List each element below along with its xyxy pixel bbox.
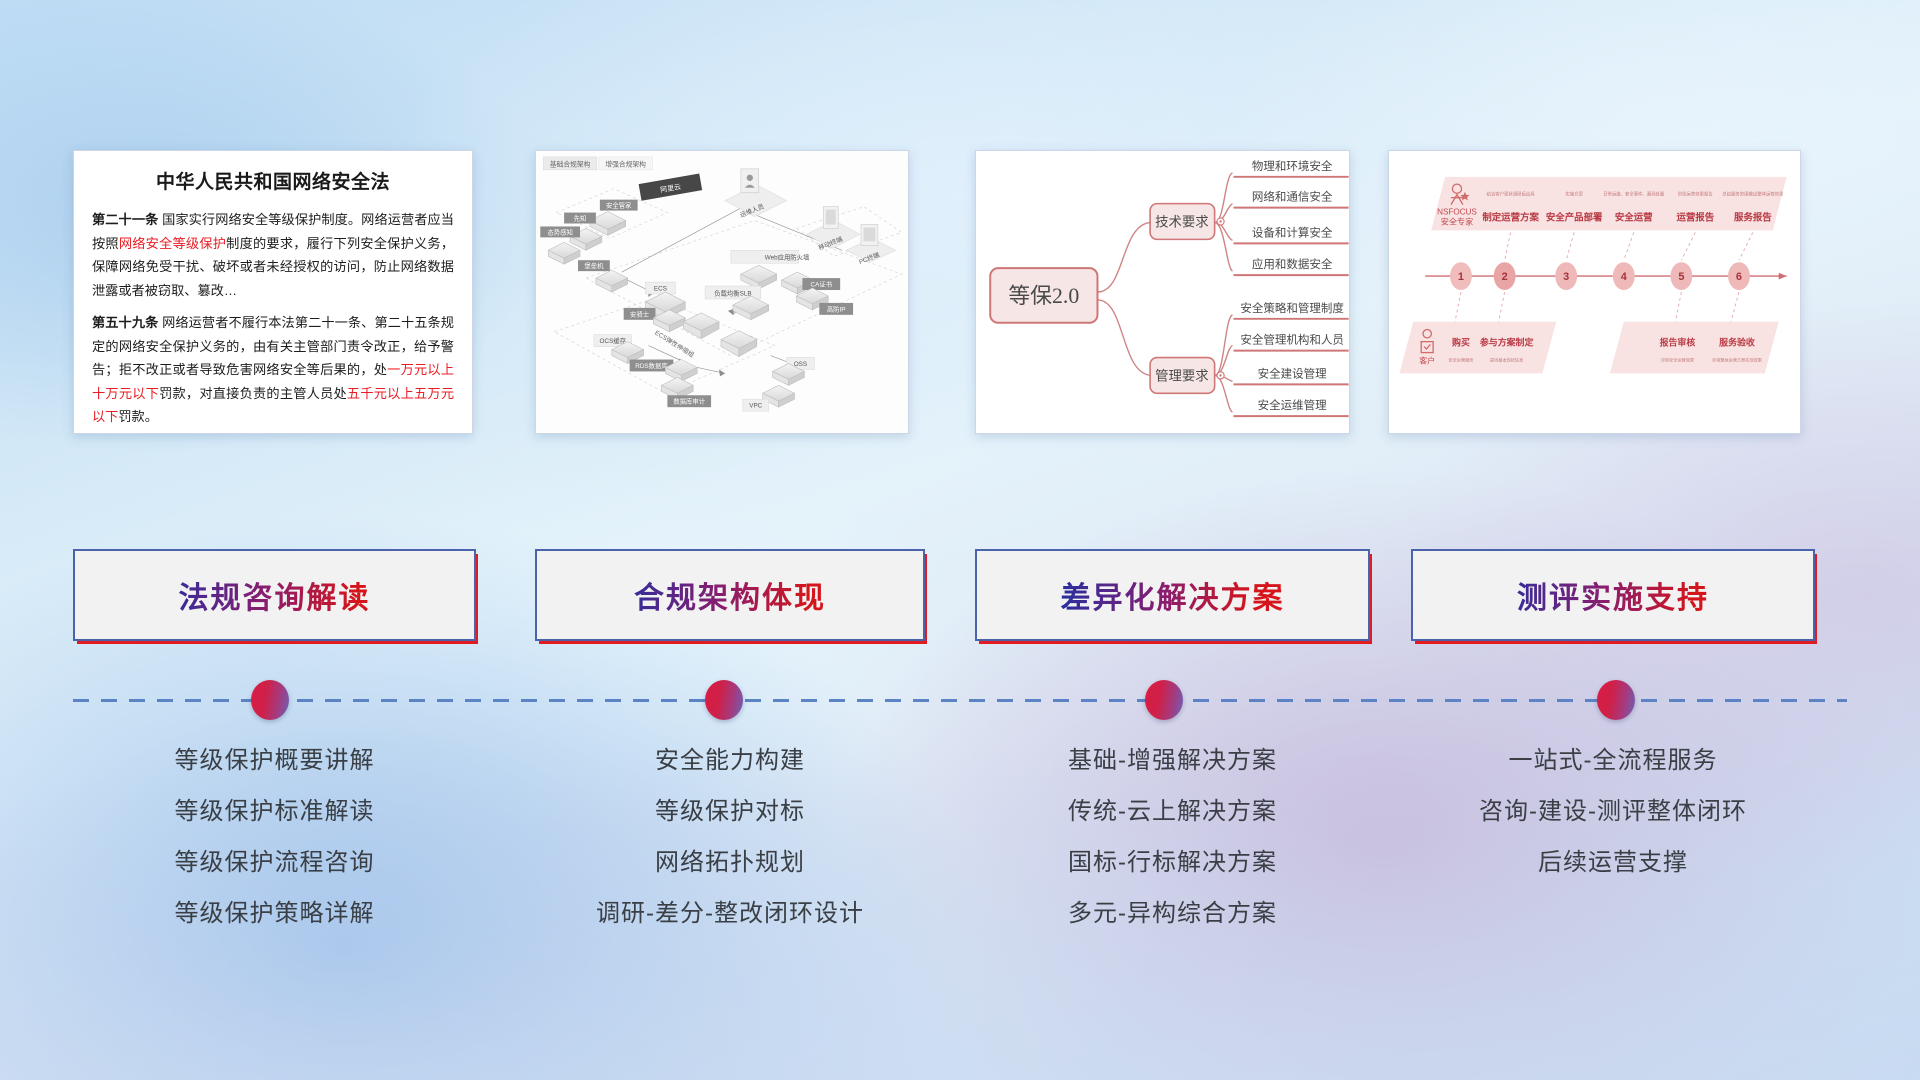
svg-text:安全运维管理: 安全运维管理 xyxy=(1258,398,1327,412)
law-paragraph-21: 第二十一条 国家实行网络安全等级保护制度。网络运营者应当按照网络安全等级保护制度… xyxy=(92,208,454,302)
dengbao-mindmap-card[interactable]: 等保2.0 技术要求 物理和环境安全 网络和通信安全 设备和计算安全 应用和数据… xyxy=(975,150,1350,434)
svg-text:服务报告: 服务报告 xyxy=(1734,212,1772,223)
svg-text:日常运维、安全事件、漏洞处置: 日常运维、安全事件、漏洞处置 xyxy=(1603,191,1665,198)
svg-text:安全产品部署: 安全产品部署 xyxy=(1546,212,1603,223)
list-item: 传统-云上解决方案 xyxy=(975,786,1370,837)
list-differentiated-solution: 基础-增强解决方案 传统-云上解决方案 国标-行标解决方案 多元-异构综合方案 xyxy=(975,735,1370,939)
list-item: 咨询-建设-测评整体闭环 xyxy=(1411,786,1815,837)
header-label: 测评实施支持 xyxy=(1413,573,1813,617)
law-article-number: 第二十一条 xyxy=(92,212,158,227)
expert-label-line2: 安全专家 xyxy=(1441,216,1474,226)
svg-text:OCS缓存: OCS缓存 xyxy=(600,336,627,345)
svg-text:安骑士: 安骑士 xyxy=(630,309,650,318)
svg-text:安全运营服务: 安全运营服务 xyxy=(1448,357,1473,363)
svg-text:6: 6 xyxy=(1736,271,1742,283)
header-assessment-support[interactable]: 测评实施支持 xyxy=(1411,549,1815,641)
law-document-card[interactable]: 中华人民共和国网络安全法 第二十一条 国家实行网络安全等级保护制度。网络运营者应… xyxy=(73,150,473,434)
svg-text:总结服务范围输出整体运营效果: 总结服务范围输出整体运营效果 xyxy=(1722,191,1784,198)
law-run: 罚款。 xyxy=(118,409,158,424)
svg-text:ECS: ECS xyxy=(654,286,667,293)
timeline-dot-3 xyxy=(1145,680,1183,720)
timeline-dot-2 xyxy=(705,680,743,720)
svg-text:5: 5 xyxy=(1678,271,1684,283)
list-item: 基础-增强解决方案 xyxy=(975,735,1370,786)
list-item: 等级保护对标 xyxy=(535,786,925,837)
list-item: 等级保护流程咨询 xyxy=(73,837,476,888)
list-item: 网络拓扑规划 xyxy=(535,837,925,888)
list-regulation-consulting: 等级保护概要讲解 等级保护标准解读 等级保护流程咨询 等级保护策略详解 xyxy=(73,735,476,939)
svg-text:服务验收: 服务验收 xyxy=(1719,337,1755,348)
law-article-number: 第五十九条 xyxy=(92,315,158,330)
architecture-diagram: 基础合规架构 增强合规架构 xyxy=(536,151,908,433)
svg-text:态势感知: 态势感知 xyxy=(547,227,572,236)
svg-text:评审整体运营方案实现效果: 评审整体运营方案实现效果 xyxy=(1712,357,1762,363)
svg-text:堡垒机: 堡垒机 xyxy=(584,261,604,270)
thumbnail-card-row: 中华人民共和国网络安全法 第二十一条 国家实行网络安全等级保护制度。网络运营者应… xyxy=(0,150,1920,450)
header-compliance-architecture[interactable]: 合规架构体现 xyxy=(535,549,925,641)
header-row: 法规咨询解读 合规架构体现 差异化解决方案 测评实施支持 xyxy=(0,549,1920,649)
header-label: 法规咨询解读 xyxy=(75,573,474,617)
list-item: 等级保护策略详解 xyxy=(73,888,476,939)
svg-text:RDS数据库: RDS数据库 xyxy=(635,361,668,370)
svg-text:设备和计算安全: 设备和计算安全 xyxy=(1252,225,1333,239)
svg-text:阶段运营效果报告: 阶段运营效果报告 xyxy=(1678,191,1714,198)
svg-text:安全建设管理: 安全建设管理 xyxy=(1258,366,1327,380)
list-item: 等级保护标准解读 xyxy=(73,786,476,837)
svg-text:安全运营: 安全运营 xyxy=(1615,212,1653,223)
timeline-dashed-line xyxy=(73,699,1847,702)
mindmap-branch-mgmt: 管理要求 xyxy=(1155,368,1209,383)
svg-text:先知: 先知 xyxy=(574,214,587,223)
svg-text:Web应用防火墙: Web应用防火墙 xyxy=(765,253,810,262)
expert-label-line1: NSFOCUS xyxy=(1437,208,1477,217)
header-regulation-consulting[interactable]: 法规咨询解读 xyxy=(73,549,476,641)
svg-text:应用和数据安全: 应用和数据安全 xyxy=(1252,257,1333,271)
header-label: 差异化解决方案 xyxy=(977,573,1368,617)
law-paragraph-59: 第五十九条 网络运营者不履行本法第二十一条、第二十五条规定的网络安全保护义务的，… xyxy=(92,311,454,429)
svg-text:参与方案制定: 参与方案制定 xyxy=(1480,337,1534,348)
svg-text:购买: 购买 xyxy=(1452,337,1470,348)
svg-text:CA证书: CA证书 xyxy=(811,280,833,289)
list-item: 等级保护概要讲解 xyxy=(73,735,476,786)
svg-text:结合客户现状调研后出具: 结合客户现状调研后出具 xyxy=(1487,191,1536,198)
svg-text:高防IP: 高防IP xyxy=(827,304,846,313)
mindmap-diagram: 等保2.0 技术要求 物理和环境安全 网络和通信安全 设备和计算安全 应用和数据… xyxy=(976,151,1349,433)
law-run: 罚款，对直接负责的主管人员处 xyxy=(159,386,347,401)
service-process-diagram: NSFOCUS 安全专家 结合客户现状调研后出具 制定运营方案 实施方案 安全产… xyxy=(1389,151,1800,433)
mindmap-branch-tech: 技术要求 xyxy=(1155,214,1209,229)
law-run-highlight: 网络安全等级保护 xyxy=(119,236,226,251)
tab-enhanced-architecture: 增强合规架构 xyxy=(605,159,646,168)
law-title: 中华人民共和国网络安全法 xyxy=(92,167,454,194)
svg-text:实施方案: 实施方案 xyxy=(1565,191,1583,198)
list-item: 安全能力构建 xyxy=(535,735,925,786)
svg-text:物理和环境安全: 物理和环境安全 xyxy=(1252,159,1333,173)
mindmap-root-label: 等保2.0 xyxy=(1008,284,1079,308)
svg-text:安全管理机构和人员: 安全管理机构和人员 xyxy=(1240,333,1344,347)
header-label: 合规架构体现 xyxy=(537,573,923,617)
timeline-connector xyxy=(0,660,1920,740)
service-process-card[interactable]: NSFOCUS 安全专家 结合客户现状调研后出具 制定运营方案 实施方案 安全产… xyxy=(1388,150,1801,434)
detail-list-row: 等级保护概要讲解 等级保护标准解读 等级保护流程咨询 等级保护策略详解 安全能力… xyxy=(0,735,1920,965)
svg-text:运营报告: 运营报告 xyxy=(1676,212,1714,223)
list-item: 调研-差分-整改闭环设计 xyxy=(535,888,925,939)
header-differentiated-solution[interactable]: 差异化解决方案 xyxy=(975,549,1370,641)
timeline-dot-4 xyxy=(1597,680,1635,720)
list-compliance-architecture: 安全能力构建 等级保护对标 网络拓扑规划 调研-差分-整改闭环设计 xyxy=(535,735,925,939)
svg-text:数据库审计: 数据库审计 xyxy=(673,397,705,406)
list-item: 后续运营支撑 xyxy=(1411,837,1815,888)
svg-text:2: 2 xyxy=(1502,271,1508,283)
list-item: 多元-异构综合方案 xyxy=(975,888,1370,939)
tab-basic-architecture: 基础合规架构 xyxy=(550,159,591,168)
svg-text:网络和通信安全: 网络和通信安全 xyxy=(1252,190,1333,204)
svg-text:负载均衡SLB: 负载均衡SLB xyxy=(714,288,751,297)
svg-text:VPC: VPC xyxy=(749,403,762,410)
svg-text:安全策略和管理制度: 安全策略和管理制度 xyxy=(1240,301,1344,315)
customer-label: 客户 xyxy=(1419,355,1435,365)
list-assessment-support: 一站式-全流程服务 咨询-建设-测评整体闭环 后续运营支撑 xyxy=(1411,735,1815,888)
svg-text:评审安全运营效果: 评审安全运营效果 xyxy=(1661,357,1694,363)
list-item: 一站式-全流程服务 xyxy=(1411,735,1815,786)
timeline-dot-1 xyxy=(251,680,289,720)
cloud-architecture-card[interactable]: 基础合规架构 增强合规架构 xyxy=(535,150,909,434)
svg-text:制定运营方案: 制定运营方案 xyxy=(1482,212,1539,223)
svg-text:提供基本现状信息: 提供基本现状信息 xyxy=(1490,357,1523,363)
svg-text:4: 4 xyxy=(1621,271,1627,283)
list-item: 国标-行标解决方案 xyxy=(975,837,1370,888)
svg-text:1: 1 xyxy=(1458,271,1464,283)
svg-text:3: 3 xyxy=(1563,271,1569,283)
svg-text:安全管家: 安全管家 xyxy=(606,201,632,210)
svg-text:报告审核: 报告审核 xyxy=(1660,337,1696,348)
